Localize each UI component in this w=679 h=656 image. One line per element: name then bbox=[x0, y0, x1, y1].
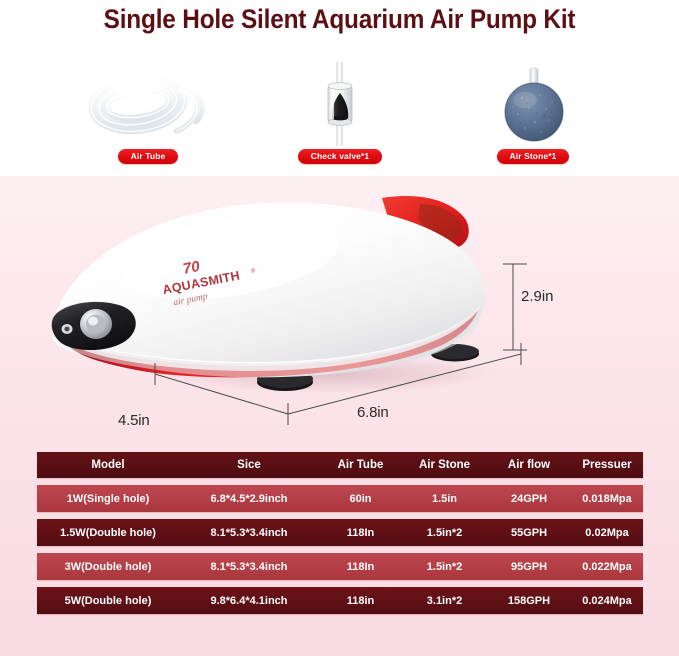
cell-air-tube: 118In bbox=[319, 527, 402, 539]
accessory-label-air-tube: Air Tube bbox=[118, 149, 179, 165]
check-valve-art bbox=[250, 62, 430, 146]
column-header-pressure: Pressuer bbox=[571, 459, 643, 471]
spec-table: Model Sice Air Tube Air Stone Air flow P… bbox=[37, 452, 643, 621]
air-tube-art bbox=[58, 62, 238, 146]
cell-model: 5W(Double hole) bbox=[37, 595, 179, 607]
cell-pressure: 0.022Mpa bbox=[571, 561, 643, 573]
cell-air-tube: 60in bbox=[319, 493, 402, 505]
cell-pressure: 0.02Mpa bbox=[571, 527, 643, 539]
page-title: Single Hole Silent Aquarium Air Pump Kit bbox=[27, 4, 652, 35]
column-header-air-flow: Air flow bbox=[487, 459, 571, 471]
cell-air-tube: 118in bbox=[319, 595, 402, 607]
air-tube-coil-icon bbox=[80, 64, 216, 144]
accessory-check-valve: Check valve*1 bbox=[250, 62, 430, 164]
accessory-air-tube: Air Tube bbox=[58, 62, 238, 164]
air-stone-art bbox=[443, 62, 623, 146]
cell-size: 9.8*6.4*4.1inch bbox=[179, 595, 319, 607]
cell-model: 3W(Double hole) bbox=[37, 561, 179, 573]
column-header-air-tube: Air Tube bbox=[319, 459, 402, 471]
table-row: 1W(Single hole) 6.8*4.5*2.9inch 60in 1.5… bbox=[37, 485, 643, 512]
cell-model: 1W(Single hole) bbox=[37, 493, 179, 505]
cell-size: 8.1*5.3*3.4inch bbox=[179, 561, 319, 573]
accessory-label-air-stone: Air Stone*1 bbox=[497, 149, 570, 165]
check-valve-icon bbox=[306, 62, 374, 146]
cell-model: 1.5W(Double hole) bbox=[37, 527, 179, 539]
spec-table-header-row: Model Sice Air Tube Air Stone Air flow P… bbox=[37, 452, 643, 478]
accessory-air-stone: Air Stone*1 bbox=[443, 62, 623, 164]
product-image-scene: 70 AQUASMITH ® air pump bbox=[0, 186, 679, 436]
cell-air-tube: 118In bbox=[319, 561, 402, 573]
dimension-label-height: 2.9in bbox=[521, 288, 554, 305]
column-header-size: Sice bbox=[179, 459, 319, 471]
air-stone-disc-icon bbox=[489, 62, 579, 146]
column-header-model: Model bbox=[37, 459, 179, 471]
cell-air-flow: 95GPH bbox=[487, 561, 571, 573]
cell-air-stone: 3.1in*2 bbox=[402, 595, 487, 607]
product-infographic: Single Hole Silent Aquarium Air Pump Kit bbox=[0, 0, 679, 656]
table-row: 3W(Double hole) 8.1*5.3*3.4inch 118In 1.… bbox=[37, 553, 643, 580]
dimension-label-width: 6.8in bbox=[357, 404, 389, 421]
table-row: 5W(Double hole) 9.8*6.4*4.1inch 118in 3.… bbox=[37, 587, 643, 614]
cell-air-stone: 1.5in*2 bbox=[402, 561, 487, 573]
cell-pressure: 0.018Mpa bbox=[571, 493, 643, 505]
cell-pressure: 0.024Mpa bbox=[571, 595, 643, 607]
cell-air-flow: 24GPH bbox=[487, 493, 571, 505]
cell-air-flow: 158GPH bbox=[487, 595, 571, 607]
table-row: 1.5W(Double hole) 8.1*5.3*3.4inch 118In … bbox=[37, 519, 643, 546]
column-header-air-stone: Air Stone bbox=[402, 459, 487, 471]
accessory-label-check-valve: Check valve*1 bbox=[298, 149, 382, 165]
cell-air-flow: 55GPH bbox=[487, 527, 571, 539]
cell-size: 8.1*5.3*3.4inch bbox=[179, 527, 319, 539]
dimension-label-depth: 4.5in bbox=[118, 412, 150, 429]
cell-air-stone: 1.5in bbox=[402, 493, 487, 505]
cell-size: 6.8*4.5*2.9inch bbox=[179, 493, 319, 505]
cell-air-stone: 1.5in*2 bbox=[402, 527, 487, 539]
